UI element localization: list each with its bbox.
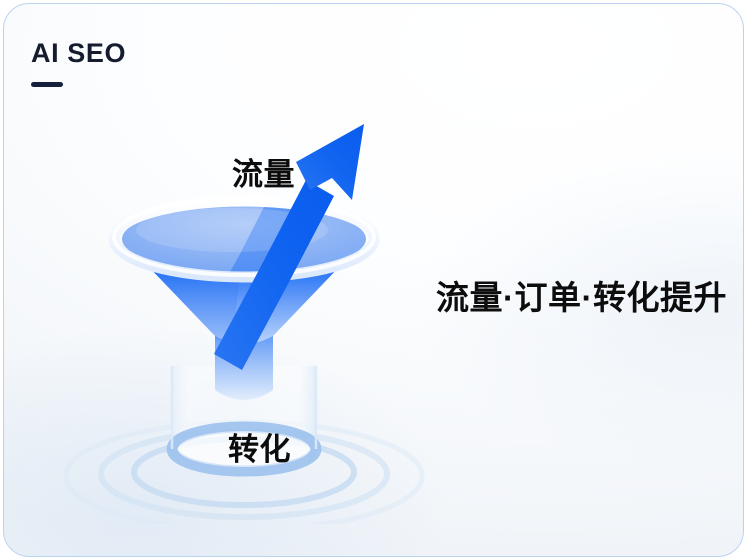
label-traffic: 流量 xyxy=(232,159,295,190)
illustration-stage: 流量 转化 xyxy=(64,104,484,524)
label-conversion: 转化 xyxy=(228,434,291,465)
title-accent-bar xyxy=(31,82,63,87)
header: AI SEO xyxy=(31,40,126,87)
page-title: AI SEO xyxy=(31,40,126,67)
illustration-card: AI SEO 流量·订单·转化提升 xyxy=(3,3,744,557)
